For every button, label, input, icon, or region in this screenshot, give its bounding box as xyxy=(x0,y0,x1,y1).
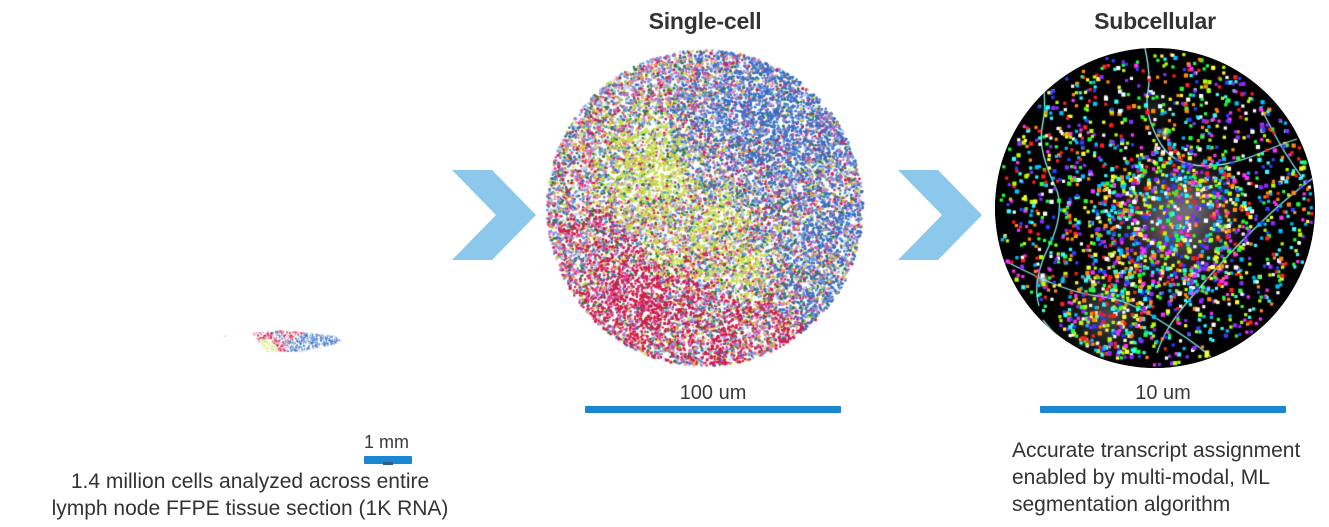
caption-right-line-3: segmentation algorithm xyxy=(1012,491,1322,518)
chevron-right-icon-2 xyxy=(898,170,982,260)
scale-bar-10um xyxy=(1040,406,1286,413)
caption-right: Accurate transcript assignment enabled b… xyxy=(1012,437,1322,518)
subcellular-panel xyxy=(995,48,1315,368)
scale-bar-1mm-tick xyxy=(383,462,393,465)
caption-left-line-2: lymph node FFPE tissue section (1K RNA) xyxy=(40,495,460,522)
caption-right-line-2: enabled by multi-modal, ML xyxy=(1012,464,1322,491)
panel-title-single-cell: Single-cell xyxy=(545,8,865,35)
caption-right-line-1: Accurate transcript assignment xyxy=(1012,437,1322,464)
panel-title-subcellular: Subcellular xyxy=(995,8,1315,35)
caption-left: 1.4 million cells analyzed across entire… xyxy=(40,468,460,522)
scale-label-100um: 100 um xyxy=(585,382,841,405)
scale-label-10um: 10 um xyxy=(1040,382,1286,405)
subcellular-transcript-image xyxy=(995,48,1315,368)
scale-bar-100um xyxy=(585,406,841,413)
tissue-overview-panel xyxy=(36,0,436,455)
figure-root: 1 mm 1.4 million cells analyzed across e… xyxy=(0,0,1329,527)
single-cell-panel xyxy=(545,48,865,368)
chevron-right-icon-1 xyxy=(452,170,536,260)
lymph-node-tissue-image xyxy=(36,0,436,455)
single-cell-scatter-image xyxy=(545,48,865,368)
caption-left-line-1: 1.4 million cells analyzed across entire xyxy=(40,468,460,495)
scale-label-1mm: 1 mm xyxy=(300,432,480,453)
